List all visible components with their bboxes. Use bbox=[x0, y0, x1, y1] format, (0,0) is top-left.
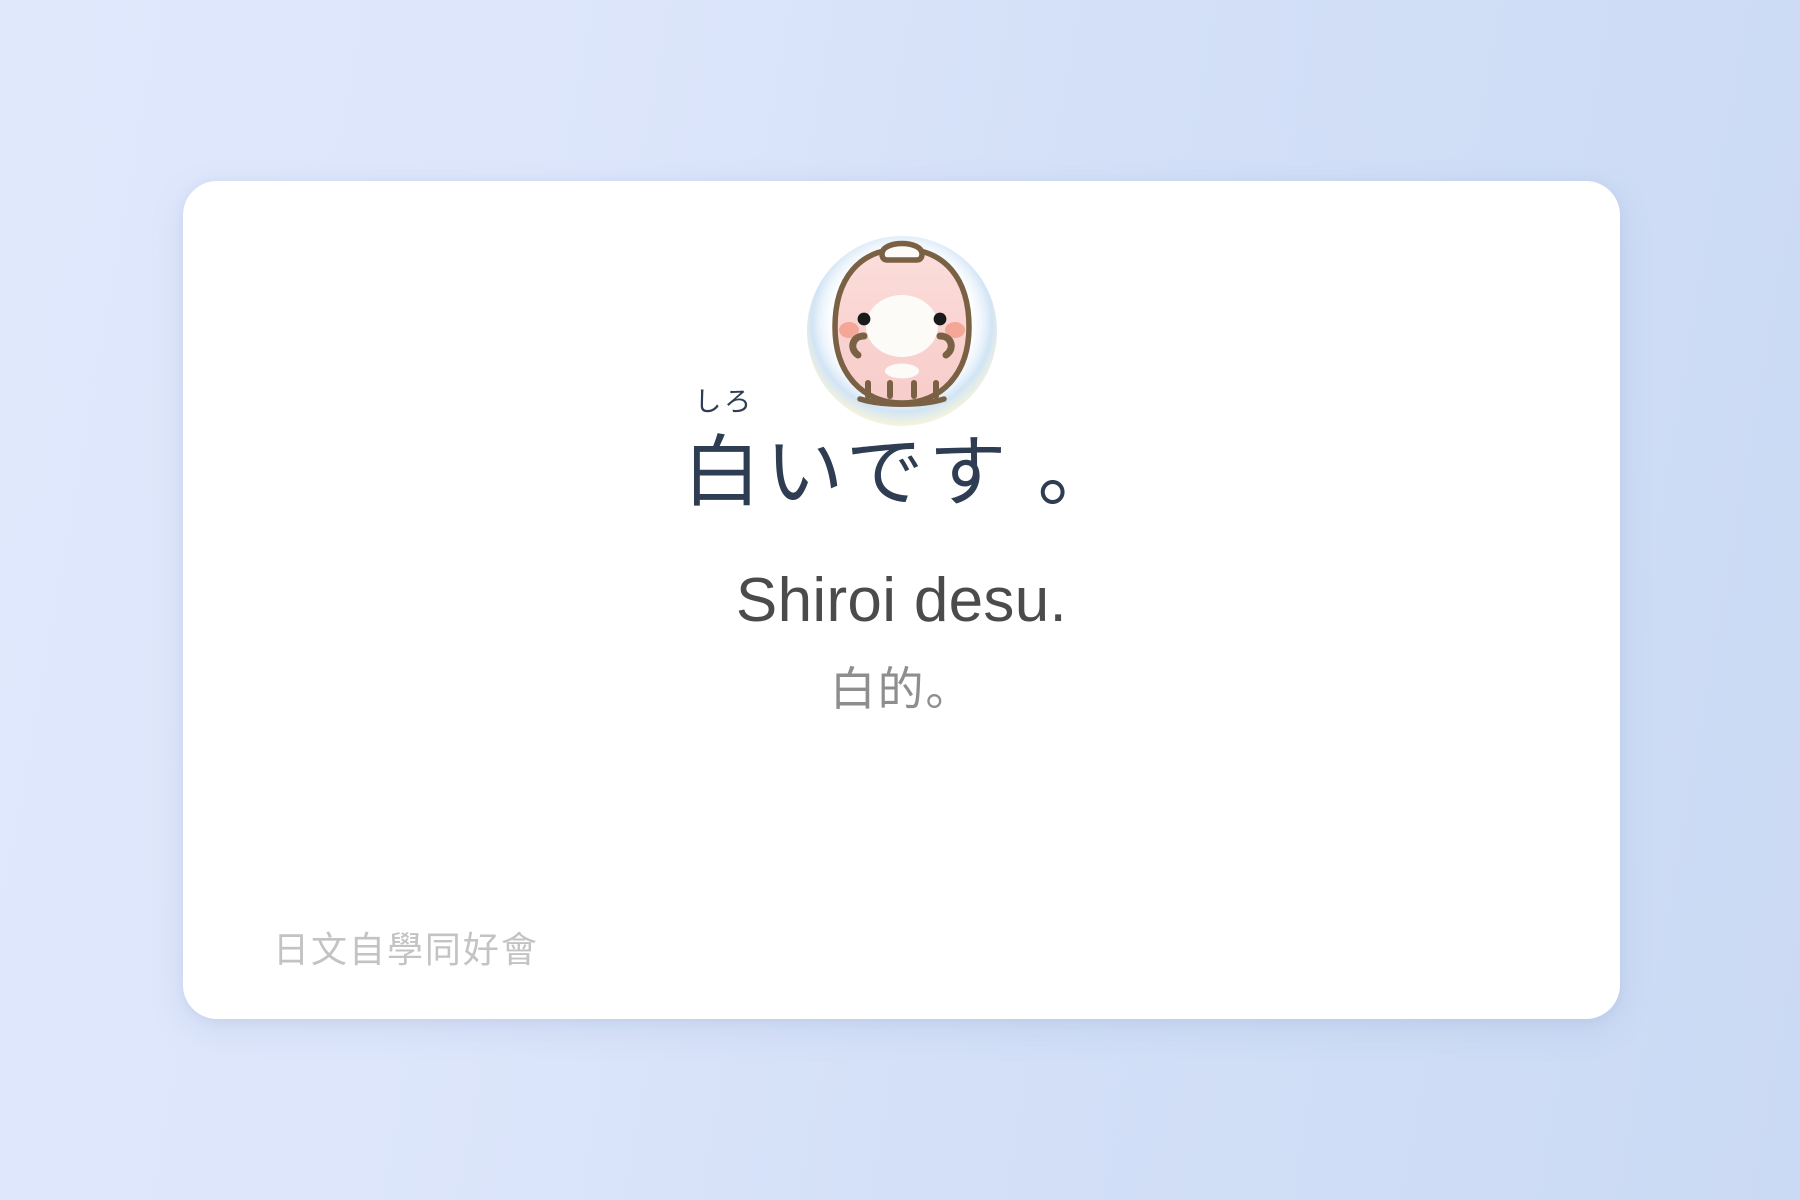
romaji-reading: Shiroi desu. bbox=[183, 567, 1620, 635]
kanji-with-furigana: しろ 白 bbox=[683, 433, 766, 513]
mascot-avatar-icon bbox=[802, 231, 1002, 431]
furigana-reading: しろ bbox=[694, 389, 753, 417]
sentence-kanji: 白 bbox=[683, 428, 766, 516]
japanese-sentence: しろ 白 いです 。 bbox=[683, 433, 1120, 513]
flashcard: しろ 白 いです 。 Shiroi desu. 白的。 日文自學同好會 bbox=[183, 181, 1620, 1019]
card-text-stack: しろ 白 いです 。 Shiroi desu. 白的。 bbox=[183, 433, 1620, 716]
footer-attribution: 日文自學同好會 bbox=[273, 928, 539, 971]
chinese-translation: 白的。 bbox=[183, 663, 1620, 716]
sentence-tail: いです 。 bbox=[765, 428, 1120, 516]
